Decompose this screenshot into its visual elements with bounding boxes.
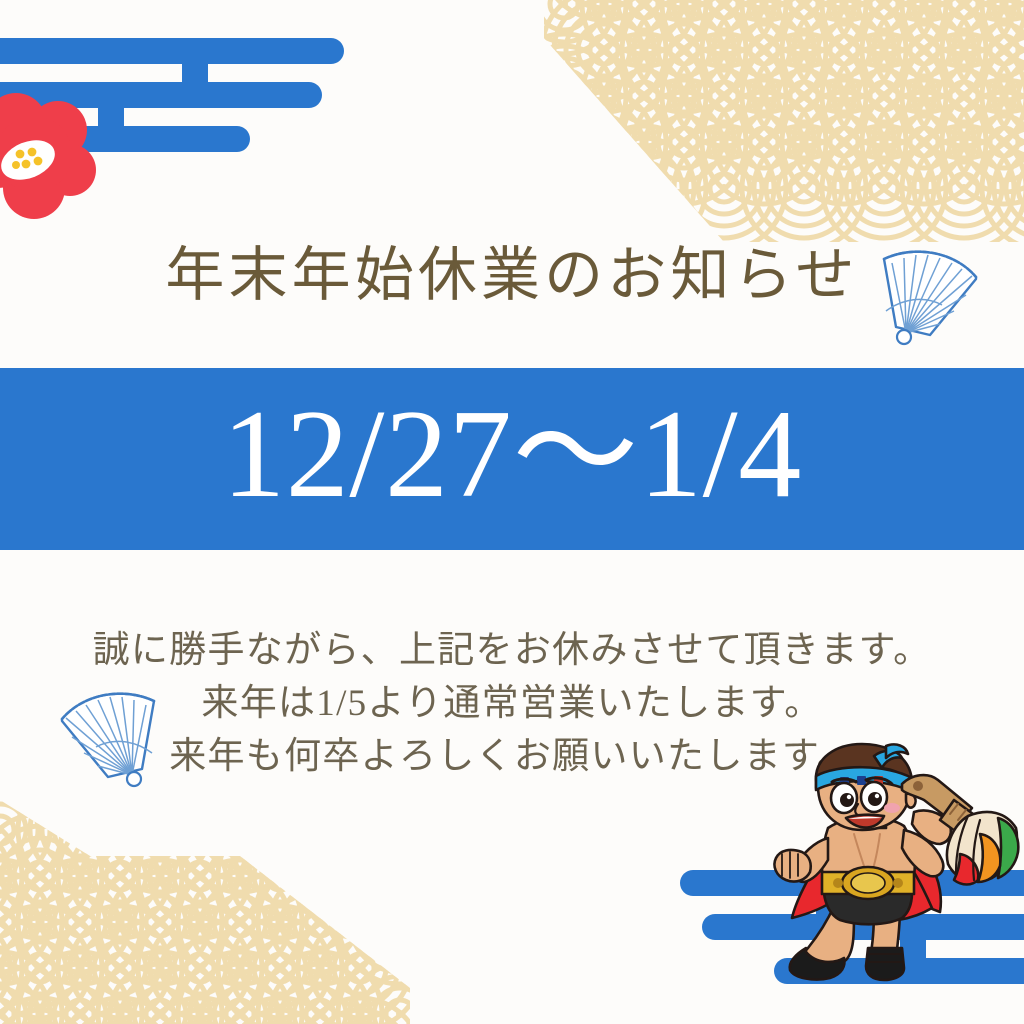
- kasumi-cloud-bars-bottom-right: [658, 870, 1024, 1006]
- page-title-text: 年末年始休業のお知らせ: [165, 246, 858, 305]
- date-banner: 12/27〜1/4: [0, 368, 1024, 550]
- camellia-flower-icon: [0, 84, 112, 224]
- seigaiha-wave-pattern-bottom-left: [0, 800, 410, 1024]
- holiday-date-range: 12/27〜1/4: [222, 392, 802, 518]
- notice-body: 誠に勝手ながら、上記をお休みさせて頂きます。 来年は1/5より通常営業いたします…: [0, 624, 1024, 783]
- holiday-notice-poster: 年末年始休業のお知らせ: [0, 0, 1024, 1024]
- notice-body-line: 来年も何卒よろしくお願いいたします。: [0, 730, 1024, 783]
- kasumi-cloud-bars-top-left: [0, 38, 366, 174]
- page-title: 年末年始休業のお知らせ: [0, 246, 1024, 305]
- notice-body-line: 誠に勝手ながら、上記をお休みさせて頂きます。: [0, 624, 1024, 677]
- notice-body-line: 来年は1/5より通常営業いたします。: [0, 677, 1024, 730]
- seigaiha-wave-pattern-top-right: [544, 0, 1024, 242]
